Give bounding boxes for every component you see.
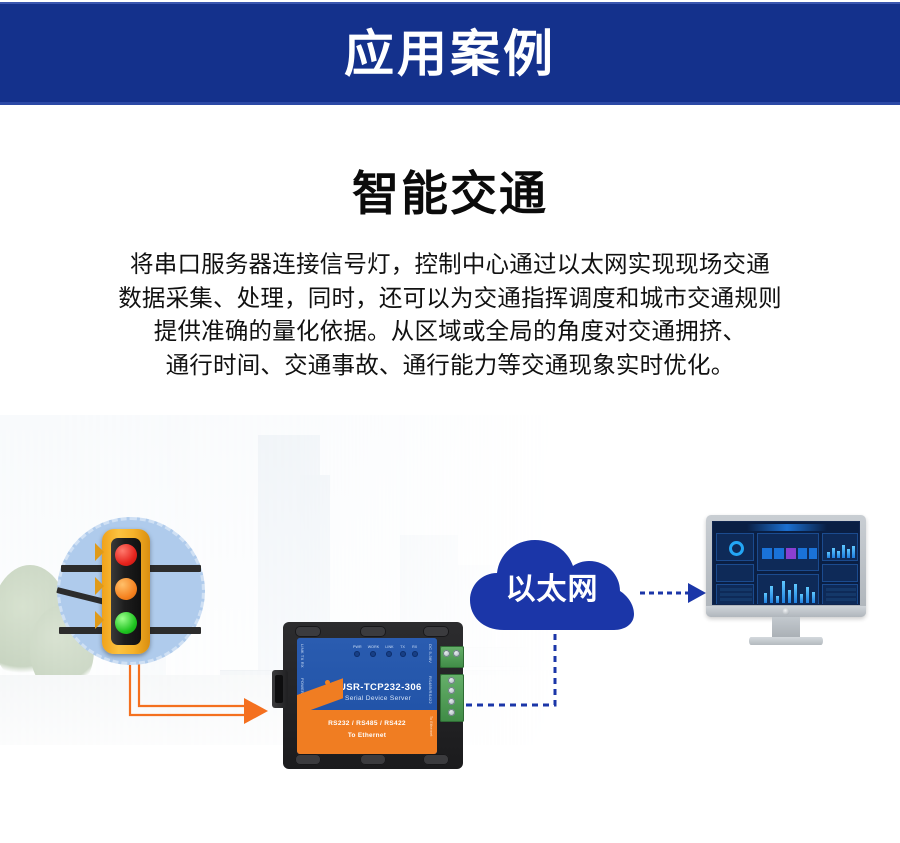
mount-slot — [423, 626, 449, 637]
mount-slot — [423, 754, 449, 765]
led-label: TX — [400, 645, 405, 649]
dashboard-panel-bars-right — [822, 533, 858, 561]
device-interfaces-label: RS232 / RS485 / RS422 — [297, 720, 437, 727]
traffic-lamp-green — [115, 612, 137, 634]
monitor-bezel — [706, 515, 866, 617]
dashboard-table-row — [826, 598, 856, 601]
description-line: 通行时间、交通事故、通行能力等交通现象实时优化。 — [70, 349, 830, 383]
dashboard-bar — [800, 594, 803, 603]
dashboard-bar — [782, 581, 785, 603]
dashboard-panel-table-right — [822, 584, 858, 605]
led-work: WORK — [368, 645, 380, 657]
led-pwr: PWR — [353, 645, 362, 657]
cloud-label: 以太网 — [468, 564, 636, 608]
dashboard-chip — [774, 548, 784, 559]
control-center-monitor — [706, 515, 866, 650]
dashboard-panel-gauge — [716, 533, 754, 561]
page-title: 应用案例 — [344, 29, 556, 79]
device-ethernet-label: To Ethernet — [297, 732, 437, 739]
dashboard-bar — [806, 587, 809, 603]
terminal-screw — [448, 677, 455, 684]
led-dot — [386, 651, 392, 657]
dashboard-bar — [776, 596, 779, 603]
device-subtitle-label: Serial Device Server — [345, 695, 411, 702]
traffic-light-body — [111, 538, 141, 645]
monitor-stand-neck — [772, 617, 800, 639]
led-tx: TX — [400, 645, 406, 657]
device-side-label-left-top: LINK TX RX — [300, 644, 305, 668]
db9-serial-connector — [272, 670, 288, 708]
visor-icon — [95, 543, 104, 561]
rs485-terminal-block — [440, 674, 464, 722]
led-label: LINK — [385, 645, 393, 649]
led-dot — [412, 651, 418, 657]
visor-icon — [95, 611, 104, 629]
traffic-light-housing — [102, 529, 150, 654]
dashboard-bar — [770, 586, 773, 603]
terminal-screw — [448, 698, 455, 705]
dashboard-bar — [812, 592, 815, 603]
monitor-stand-base — [749, 637, 823, 645]
led-rx: RX — [412, 645, 418, 657]
header-top-rule — [0, 2, 900, 4]
dashboard-panel-controls-left — [716, 564, 754, 582]
dashboard-table-row — [720, 588, 752, 591]
led-dot — [370, 651, 376, 657]
dashboard-table-row — [826, 588, 856, 591]
terminal-screw — [443, 650, 450, 657]
dashboard-panel-table-left — [716, 584, 754, 605]
section-title: 智能交通 — [0, 168, 900, 221]
mount-slot — [360, 754, 386, 765]
terminal-screw — [448, 687, 455, 694]
led-dot — [400, 651, 406, 657]
terminal-screw — [453, 650, 460, 657]
description-line: 将串口服务器连接信号灯，控制中心通过以太网实现现场交通 — [70, 248, 830, 282]
device-side-label-right-top: DC 5-36V — [428, 644, 433, 663]
visor-icon — [95, 577, 104, 595]
monitor-screen — [712, 521, 860, 605]
mount-slot — [295, 626, 321, 637]
dashboard-bar — [827, 552, 830, 558]
traffic-light-callout — [57, 517, 205, 665]
dashboard-bar — [852, 546, 855, 558]
led-label: RX — [412, 645, 417, 649]
led-indicator-row: PWR WORK LINK TX RX — [353, 645, 418, 657]
dashboard-chip — [786, 548, 796, 559]
ethernet-cloud: 以太网 — [468, 534, 636, 638]
dashboard-table-row — [720, 598, 752, 601]
page-header-banner: 应用案例 — [0, 2, 900, 105]
mount-slot — [295, 754, 321, 765]
dashboard-panel-controls-right — [822, 564, 858, 582]
terminal-screw — [448, 709, 455, 716]
dashboard-bar — [842, 545, 845, 558]
device-model-label: USR-TCP232-306 — [339, 682, 422, 693]
monitor-brand-icon — [783, 608, 790, 615]
dashboard-chip — [809, 548, 817, 559]
device-front-panel: PWR WORK LINK TX RX — [297, 638, 437, 754]
dashboard-panel-center-top — [757, 533, 819, 571]
dashboard-table-row — [720, 593, 752, 596]
dashboard-bar — [847, 549, 850, 558]
dashboard-bar — [832, 548, 835, 558]
led-link: LINK — [385, 645, 393, 657]
led-dot — [354, 651, 360, 657]
header-bottom-rule — [0, 102, 900, 105]
dashboard-title-bar — [747, 524, 827, 531]
description-line: 提供准确的量化依据。从区域或全局的角度对交通拥挤、 — [70, 315, 830, 349]
description-line: 数据采集、处理，同时，还可以为交通指挥调度和城市交通规则 — [70, 282, 830, 316]
dashboard-chip — [762, 548, 772, 559]
traffic-lamp-amber — [115, 578, 137, 600]
dashboard-chip — [798, 548, 807, 559]
dashboard-bar — [837, 551, 840, 558]
dashboard-bar — [788, 590, 791, 603]
dashboard-table-row — [826, 593, 856, 596]
db9-pins — [275, 675, 283, 703]
led-label: WORK — [368, 645, 380, 649]
device-side-label-right-bottom: RS485/RS422 — [428, 676, 433, 704]
dashboard-bar — [764, 593, 767, 603]
section-description: 将串口服务器连接信号灯，控制中心通过以太网实现现场交通 数据采集、处理，同时，还… — [70, 248, 830, 382]
serial-device-server: PWR WORK LINK TX RX — [283, 622, 463, 769]
power-terminal-block — [440, 646, 464, 668]
dashboard-panel-main-chart — [757, 574, 819, 605]
mount-slot — [360, 626, 386, 637]
led-label: PWR — [353, 645, 362, 649]
dashboard-bar — [794, 584, 797, 603]
gauge-ring — [729, 541, 744, 556]
traffic-lamp-red — [115, 544, 137, 566]
